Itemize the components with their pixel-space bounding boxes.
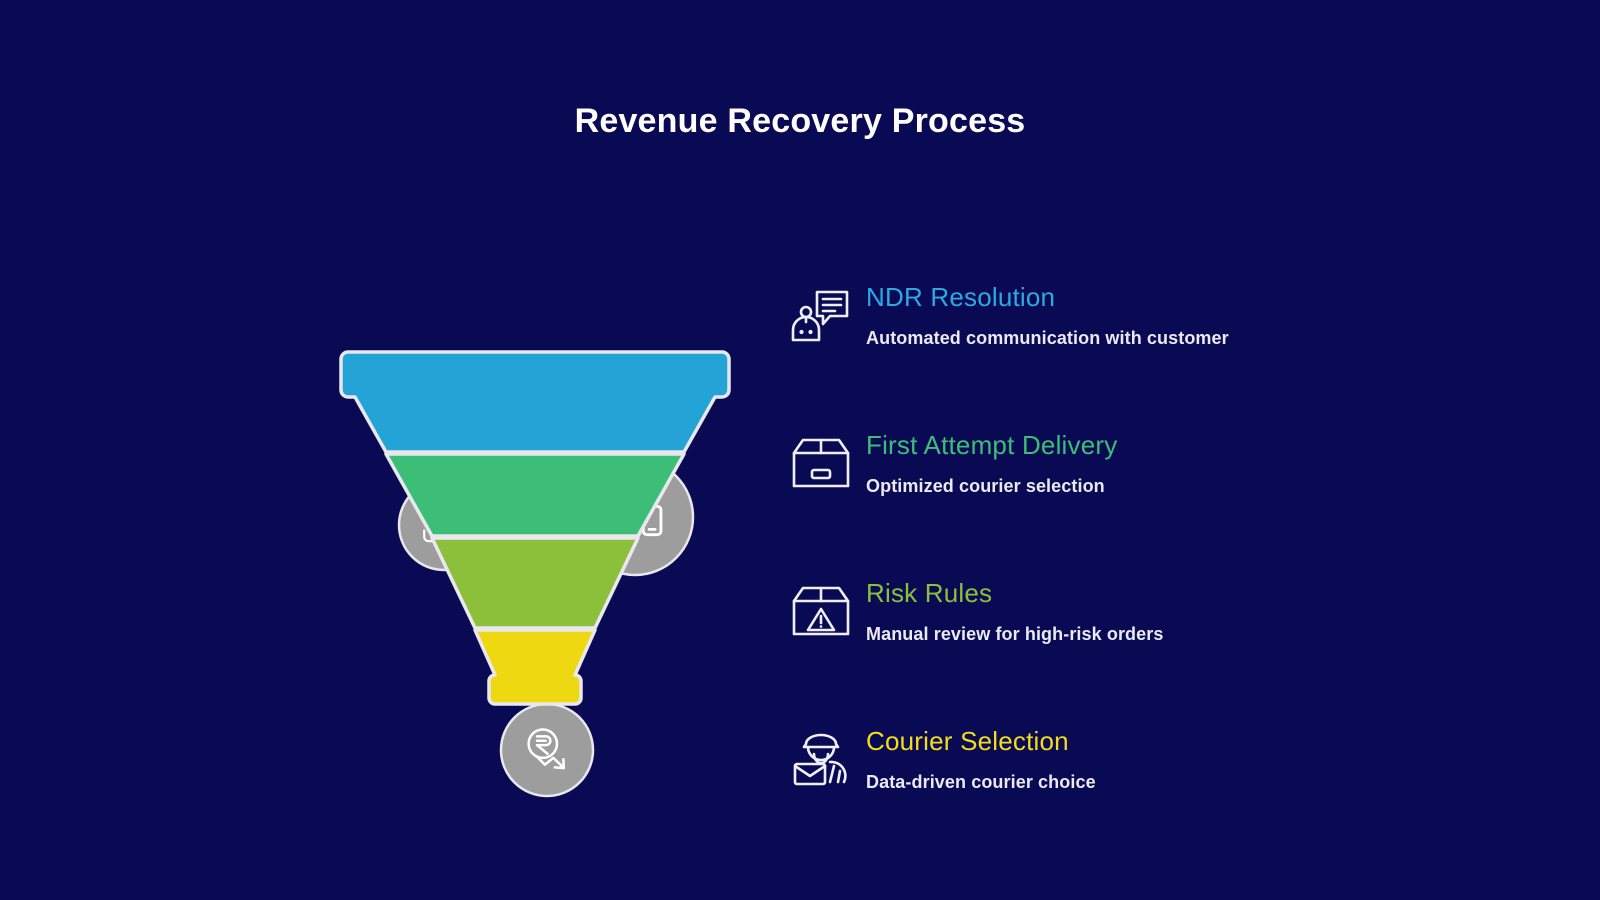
page-title: Revenue Recovery Process (0, 102, 1600, 141)
legend-description: Data-driven courier choice (866, 770, 1486, 794)
legend-title: NDR Resolution (866, 280, 1486, 314)
package-box-icon (790, 432, 852, 494)
legend-description: Manual review for high-risk orders (866, 622, 1486, 646)
legend-title: Courier Selection (866, 724, 1486, 758)
legend-title: Risk Rules (866, 576, 1486, 610)
legend-item-risk-rules[interactable]: Risk Rules Manual review for high-risk o… (790, 576, 1510, 724)
funnel-stage-risk-rules[interactable] (432, 538, 638, 628)
funnel-stage-ndr-resolution[interactable] (341, 352, 729, 452)
funnel-stage-courier-selection[interactable] (475, 630, 595, 704)
legend-title: First Attempt Delivery (866, 428, 1486, 462)
funnel-stage-first-attempt-delivery[interactable] (386, 454, 684, 536)
legend-description: Automated communication with customer (866, 326, 1486, 350)
legend-description: Optimized courier selection (866, 474, 1486, 498)
funnel-diagram (310, 205, 770, 825)
chatbot-icon (790, 284, 852, 346)
courier-mail-icon (790, 728, 852, 790)
legend-item-courier-selection[interactable]: Courier Selection Data-driven courier ch… (790, 724, 1510, 872)
box-warning-icon (790, 580, 852, 642)
legend-item-ndr-resolution[interactable]: NDR Resolution Automated communication w… (790, 280, 1510, 428)
revenue-loss-bubble (501, 704, 593, 796)
legend-list: NDR Resolution Automated communication w… (790, 280, 1510, 872)
slide-canvas: Revenue Recovery Process (0, 0, 1600, 900)
legend-item-first-attempt-delivery[interactable]: First Attempt Delivery Optimized courier… (790, 428, 1510, 576)
